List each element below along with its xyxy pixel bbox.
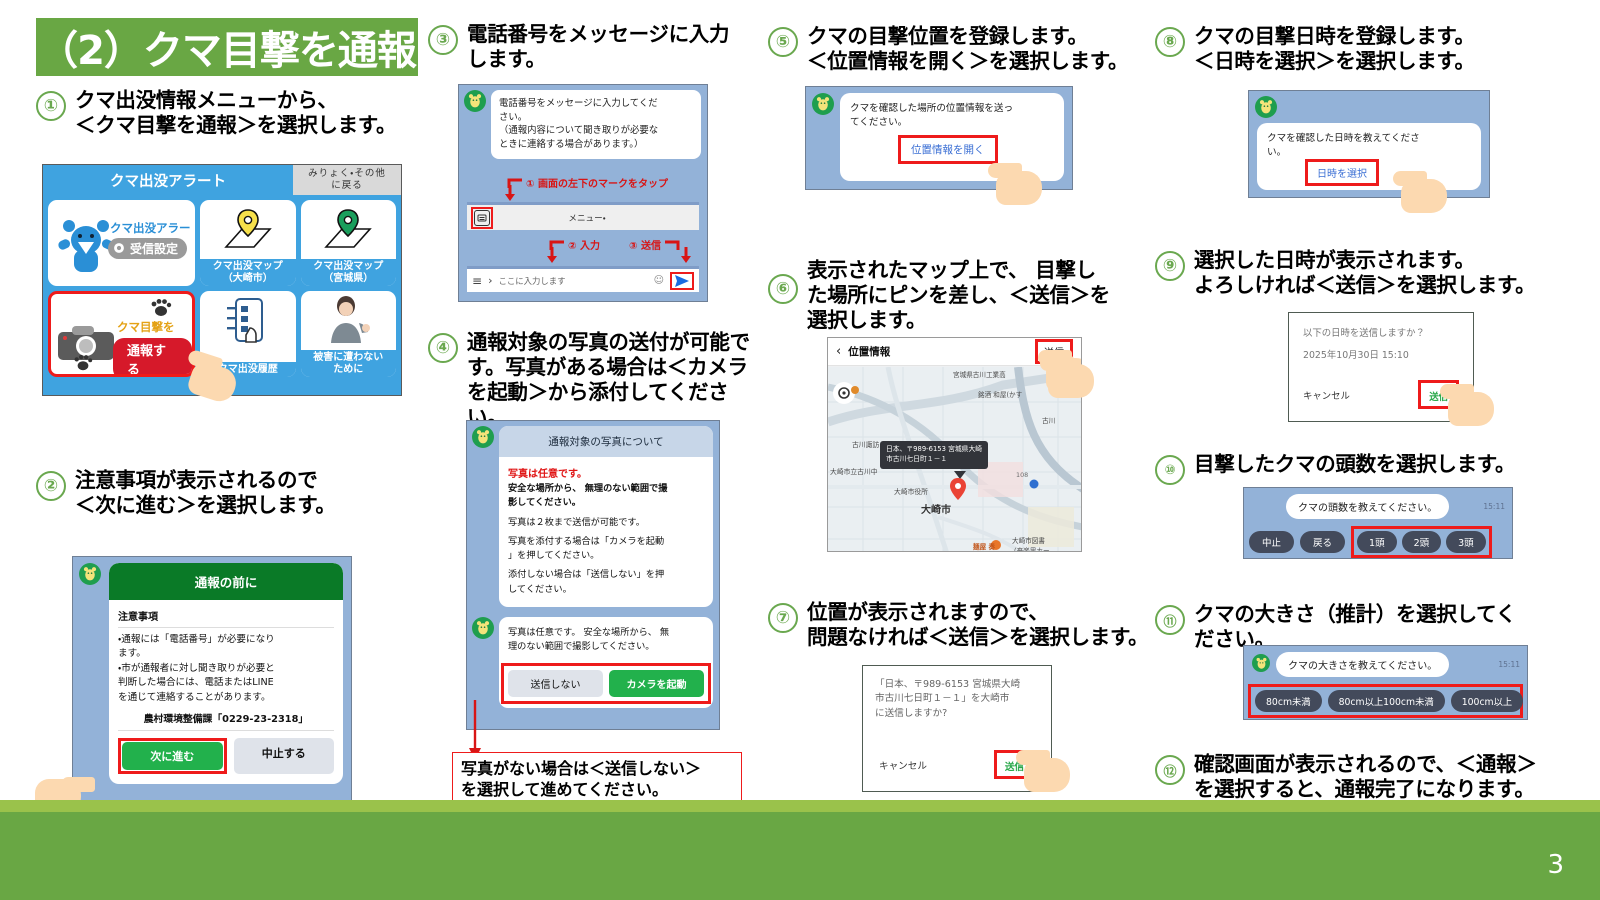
select-datetime-button[interactable]: 日時を選択 [1317,165,1367,180]
step-5: ⑤ クマの目撃位置を登録します。 ＜位置情報を開く＞を選択します。 [768,24,1118,74]
map-screenshot: ‹ 位置情報 送信 [827,337,1082,552]
map-label: 麺屋 奏 [973,541,995,551]
map-pin-tooltip: 日本、〒989-6153 宮城県大崎 市古川七日町１－１ [880,441,988,469]
phone-list-icon [224,297,272,347]
bot-avatar [472,426,494,448]
datetime-confirm-value: 2025年10月30日 15:10 [1289,339,1473,361]
datetime-request-screenshot: クマを確認した日時を教えてくださ い。 日時を選択 [1248,90,1490,198]
datetime-confirm-question: 以下の日時を送信しますか？ [1289,313,1473,339]
bear-avatar-icon [475,620,491,636]
menu-screen-screenshot: クマ出没アラート みりょく・その他 に戻る [42,164,402,396]
step-number: ③ [428,25,458,55]
map-canvas[interactable]: 宮城県古川工業高 銘酒 和屋(かす 古川 古川諏訪 大崎市立古川中 大崎市役所 … [828,367,1081,551]
step-description: 確認画面が表示されるので、＜通報＞ を選択すると、通報完了になります。 [1194,752,1537,802]
step-number: ⑩ [1155,455,1185,485]
paw-icon [150,298,172,318]
tile-history-label: クマ出没履歴 [200,362,295,378]
datetime-confirm-cancel-button[interactable]: キャンセル [1303,388,1350,402]
tile-history[interactable]: クマ出没履歴 [200,291,295,377]
map-label: （来楽里ホー [1010,545,1050,551]
step-2: ② 注意事項が表示されるので ＜次に進む＞を選択します。 [36,468,436,518]
step-9: ⑨ 選択した日時が表示されます。 よろしければ＜送信＞を選択します。 [1155,248,1585,298]
size-timestamp: 15:11 [1498,660,1520,669]
bear-avatar-icon [82,566,98,582]
size-option-1[interactable]: 80cm未満 [1255,690,1322,712]
location-confirm-cancel-button[interactable]: キャンセル [879,758,927,772]
footer-accent-bar [0,800,1600,812]
location-confirm-send-button[interactable]: 送信 [1005,762,1024,773]
photo-dialog-bold-body: 安全な場所から、 無理のない範囲で撮 影してください。 [508,482,704,511]
bear-avatar-icon [475,429,491,445]
page-title: （2）クマ目撃を通報 [36,18,418,76]
menu-header-title: クマ出没アラート [43,165,293,195]
map-label: 大崎市 [921,501,951,516]
step-description: 位置が表示されますので、 問題なければ＜送信＞を選択します。 [807,600,1148,650]
bear-avatar-icon [815,96,831,112]
step-7: ⑦ 位置が表示されますので、 問題なければ＜送信＞を選択します。 [768,600,1118,650]
do-not-send-button[interactable]: 送信しない [508,670,603,697]
datetime-request-bubble: クマを確認した日時を教えてくださ い。 日時を選択 [1257,123,1481,190]
step-number: ⑦ [768,603,798,633]
tile-map-osaki[interactable]: クマ出没マップ（大崎市） [200,200,295,286]
location-request-screenshot: クマを確認した場所の位置情報を送っ てください。 位置情報を開く [805,86,1073,190]
location-request-bubble: クマを確認した場所の位置情報を送っ てください。 位置情報を開く [840,93,1064,181]
step-description: 電話番号をメッセージに入力 します。 [467,22,729,72]
map-pin-yellow-icon [220,207,276,253]
tile-receive-settings-pill[interactable]: 受信設定 [108,238,187,259]
map-send-button[interactable]: 送信 [1035,339,1073,364]
size-question-bubble: クマの大きさを教えてください。 [1276,652,1449,677]
step-6: ⑥ 表示されたマップ上で、 目撃し た場所にピンを差し、＜送信＞を 選択します。 [768,258,1112,333]
photo-dialog-screenshot: 通報対象の写真について 写真は任意です。 安全な場所から、 無理のない範囲で撮 … [466,420,720,730]
phone-request-bubble: 電話番号をメッセージに入力してくだ さい。 （通報内容について聞き取りが必要な … [491,90,701,159]
map-label: 古川諏訪 [852,439,879,449]
corner-arrow-icon [664,239,680,251]
keyboard-icon[interactable] [474,210,490,226]
gear-icon [112,241,126,255]
count-option-3[interactable]: 3頭 [1446,531,1486,553]
step-4: ④ 通報対象の写真の送付が可能で す。写真がある場合は＜カメラ を起動＞から添付… [428,330,750,430]
notice-body: ・通報には「電話番号」が必要になり ます。 ・市が通報者に対し聞き取りが必要と … [118,633,334,705]
start-camera-button[interactable]: カメラを起動 [609,670,704,697]
bot-avatar [812,93,834,115]
map-label: 古川 [1042,415,1055,425]
count-option-1[interactable]: 1頭 [1357,531,1397,553]
tile-report-title: クマ目撃を [117,319,175,335]
count-question-bubble: クマの頭数を教えてください。 [1286,494,1449,519]
map-nav-title: 位置情報 [848,344,890,359]
size-option-2[interactable]: 80cm以上100cm未満 [1328,690,1445,712]
annotation-1: ① 画面の左下のマークをタップ [507,175,668,190]
chevron-right-icon[interactable]: › [488,274,492,287]
tile-avoid-damage[interactable]: 被害に遭わないために [301,291,396,377]
step-description: 表示されたマップ上で、 目撃し た場所にピンを差し、＜送信＞を 選択します。 [807,258,1110,333]
step-description: クマの目撃位置を登録します。 ＜位置情報を開く＞を選択します。 [807,24,1128,74]
step-description: 通報対象の写真の送付が可能で す。写真がある場合は＜カメラ を起動＞から添付して… [467,330,750,430]
notice-dialog-title: 通報の前に [109,563,343,600]
photo-dialog-red-line: 写真は任意です。 [508,465,704,480]
step-description: クマの目撃日時を登録します。 ＜日時を選択＞を選択します。 [1194,24,1475,74]
map-label: 宮城県古川工業高 [953,369,1006,379]
count-timestamp: 15:11 [1483,502,1505,511]
menu-header: クマ出没アラート みりょく・その他 に戻る [43,165,401,195]
message-input-bar: ≡ › ここに入力します ☺ [467,266,699,292]
tile-report-sighting[interactable]: クマ目撃を 通報する [48,291,195,377]
bot-avatar [1255,96,1277,118]
step-10: ⑩ 目撃したクマの頭数を選択します。 [1155,452,1585,485]
bear-avatar-icon [467,93,483,109]
emoji-icon[interactable]: ☺ [654,275,664,286]
bear-avatar-icon [1255,657,1268,670]
step-12: ⑫ 確認画面が表示されるので、＜通報＞ を選択すると、通報完了になります。 [1155,752,1595,802]
notice-dialog: 通報の前に 注意事項 ・通報には「電話番号」が必要になり ます。 ・市が通報者に… [109,563,343,784]
datetime-confirm-screenshot: 以下の日時を送信しますか？ 2025年10月30日 15:10 キャンセル 送信 [1288,312,1474,422]
datetime-confirm-send-button[interactable]: 送信 [1429,392,1448,403]
map-label: 108 [1016,471,1028,479]
step-number: ⑥ [768,274,798,304]
step-1: ① クマ出没情報メニューから、 ＜クマ目撃を通報＞を選択します。 [36,88,436,138]
step-8: ⑧ クマの目撃日時を登録します。 ＜日時を選択＞を選択します。 [1155,24,1575,74]
arrow-down-icon [505,185,515,201]
menu-hamburger-icon[interactable]: ≡ [472,274,482,288]
bot-avatar [472,617,494,639]
next-button[interactable]: 次に進む [122,742,223,770]
step-description: クマ出没情報メニューから、 ＜クマ目撃を通報＞を選択します。 [75,88,396,138]
message-input[interactable]: ここに入力します [498,275,647,287]
tile-avoid-damage-label: 被害に遭わないために [301,350,396,377]
callout-arrow-icon [468,700,482,760]
arrow-down-icon [547,247,557,263]
step-number: ⑨ [1155,251,1185,281]
step-number: ⑧ [1155,27,1185,57]
paw-icon [73,354,93,372]
back-to-other-button[interactable]: みりょく・その他 に戻る [293,165,401,195]
bot-avatar [464,90,486,112]
map-pin-green-icon [320,207,376,253]
bear-icon [56,214,116,276]
step-3: ③ 電話番号をメッセージに入力 します。 [428,22,738,72]
cancel-button[interactable]: 中止する [234,738,335,774]
photo-dialog-title: 通報対象の写真について [499,426,713,457]
photo-dialog: 通報対象の写真について 写真は任意です。 安全な場所から、 無理のない範囲で撮 … [499,426,713,607]
location-confirm-body: 「日本、〒989-6153 宮城県大崎 市古川七日町１－１」を大崎市 に送信しま… [863,666,1051,721]
chevron-left-icon[interactable]: ‹ [836,344,841,359]
tile-map-miyagi-label: クマ出没マップ（宮城県） [301,259,396,286]
notice-section-heading: 注意事項 [118,608,334,623]
bot-avatar [1252,654,1270,672]
menu-tile-grid: クマ出没アラート 受信設定 クマ出没マップ（大崎市） [43,195,401,382]
step-description: 選択した日時が表示されます。 よろしければ＜送信＞を選択します。 [1194,248,1535,298]
map-label: 大崎市立古川中 [830,466,878,476]
size-option-3[interactable]: 100cm以上 [1451,690,1524,712]
slide-page: （2）クマ目撃を通報 ① クマ出没情報メニューから、 ＜クマ目撃を通報＞を選択し… [0,0,1600,900]
count-stop-button[interactable]: 中止 [1249,531,1294,553]
step-description: 注意事項が表示されるので ＜次に進む＞を選択します。 [75,468,336,518]
bear-avatar-icon [1258,99,1274,115]
map-label: 銘酒 和屋(かす [978,389,1022,399]
arrow-down-icon [681,247,691,263]
step-number: ⑫ [1155,755,1185,785]
count-back-button[interactable]: 戻る [1300,531,1345,553]
tile-map-miyagi[interactable]: クマ出没マップ（宮城県） [301,200,396,286]
step-number: ② [36,471,66,501]
map-pin-marker-icon [948,477,968,503]
photo-dialog-body: 写真は２枚まで送信が可能です。 写真を添付する場合は「カメラを起動 」を押してく… [508,516,704,597]
send-icon[interactable] [674,274,690,288]
person-icon [321,295,375,347]
map-label: 大崎市図書 [1012,535,1045,545]
menu-bar-label[interactable]: メニュー・ [493,212,681,224]
phone-input-screenshot: 電話番号をメッセージに入力してくだ さい。 （通報内容について聞き取りが必要な … [458,84,708,302]
tile-alert-settings[interactable]: クマ出没アラート 受信設定 [48,200,195,286]
step-number: ① [36,91,66,121]
open-location-button[interactable]: 位置情報を開く [911,142,985,157]
map-label: 大崎市役所 [894,486,928,496]
photo-optional-bubble: 写真は任意です。 安全な場所から、 無 理のない範囲で撮影してください。 送信し… [499,617,713,708]
notice-dialog-screenshot: 通報の前に 注意事項 ・通報には「電話番号」が必要になり ます。 ・市が通報者に… [72,556,352,801]
page-number: 3 [1547,850,1564,880]
count-option-2[interactable]: 2頭 [1402,531,1442,553]
bot-avatar [79,563,101,585]
notice-contact: 農村環境整備課「0229-23-2318」 [118,711,334,725]
step-number: ④ [428,333,458,363]
location-confirm-screenshot: 「日本、〒989-6153 宮城県大崎 市古川七日町１－１」を大崎市 に送信しま… [862,665,1052,792]
tile-report-pill[interactable]: 通報する [113,338,192,377]
menu-bar: メニュー・ [467,202,699,230]
footer-bar [0,812,1600,900]
tile-map-osaki-label: クマ出没マップ（大崎市） [200,259,295,286]
annotation-3: ③ 送信 [629,237,680,252]
step-number: ⑤ [768,27,798,57]
step-description: 目撃したクマの頭数を選択します。 [1194,452,1515,477]
bear-count-screenshot: クマの頭数を教えてください。 15:11 中止 戻る 1頭 2頭 3頭 [1243,487,1513,559]
map-nav-bar: ‹ 位置情報 送信 [828,338,1081,366]
bear-size-screenshot: クマの大きさを教えてください。 15:11 80cm未満 80cm以上100cm… [1243,645,1528,720]
step-number: ⑪ [1155,605,1185,635]
